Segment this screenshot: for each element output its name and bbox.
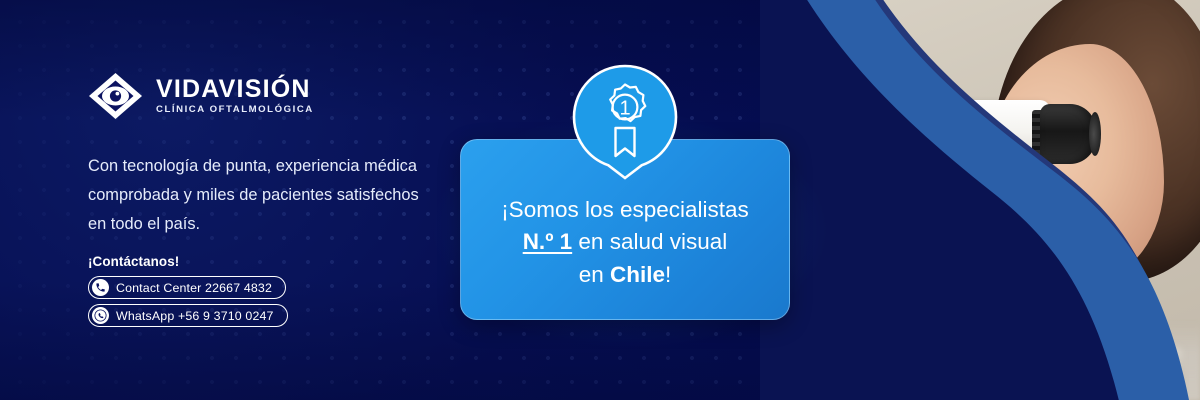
card-line-2-rest: en salud visual (572, 229, 727, 254)
award-medal-number: 1 (619, 98, 630, 120)
card-line-3-post: ! (665, 262, 671, 287)
card-line-1: ¡Somos los especialistas (501, 197, 749, 222)
content-column: VIDAVISIÓN CLÍNICA OFTALMOLÓGICA Con tec… (0, 0, 470, 400)
brand-tagline: CLÍNICA OFTALMOLÓGICA (156, 105, 314, 115)
contact-phone-pill[interactable]: Contact Center 22667 4832 (88, 276, 286, 299)
card-line-3-country: Chile (610, 262, 665, 287)
eye-diamond-icon (88, 72, 143, 120)
brand-name: VIDAVISIÓN (156, 77, 314, 102)
phone-icon (92, 279, 109, 296)
contact-phone-label: Contact Center 22667 4832 (116, 281, 272, 295)
highlight-card-text: ¡Somos los especialistas N.º 1 en salud … (487, 168, 763, 292)
brand-logo[interactable]: VIDAVISIÓN CLÍNICA OFTALMOLÓGICA (88, 72, 314, 120)
card-highlight-number: N.º 1 (523, 229, 572, 254)
contact-title: ¡Contáctanos! (88, 254, 418, 269)
wave-divider (760, 0, 1200, 400)
promo-banner: VIDAVISIÓN CLÍNICA OFTALMOLÓGICA Con tec… (0, 0, 1200, 400)
contact-whatsapp-pill[interactable]: WhatsApp +56 9 3710 0247 (88, 304, 288, 327)
contact-block: ¡Contáctanos! Contact Center 22667 4832 (88, 254, 418, 332)
pin-shape (574, 66, 676, 178)
whatsapp-icon (92, 307, 109, 324)
award-badge-pin: 1 (570, 62, 680, 180)
contact-whatsapp-label: WhatsApp +56 9 3710 0247 (116, 309, 274, 323)
card-line-3-pre: en (579, 262, 610, 287)
lead-paragraph: Con tecnología de punta, experiencia méd… (88, 152, 440, 240)
